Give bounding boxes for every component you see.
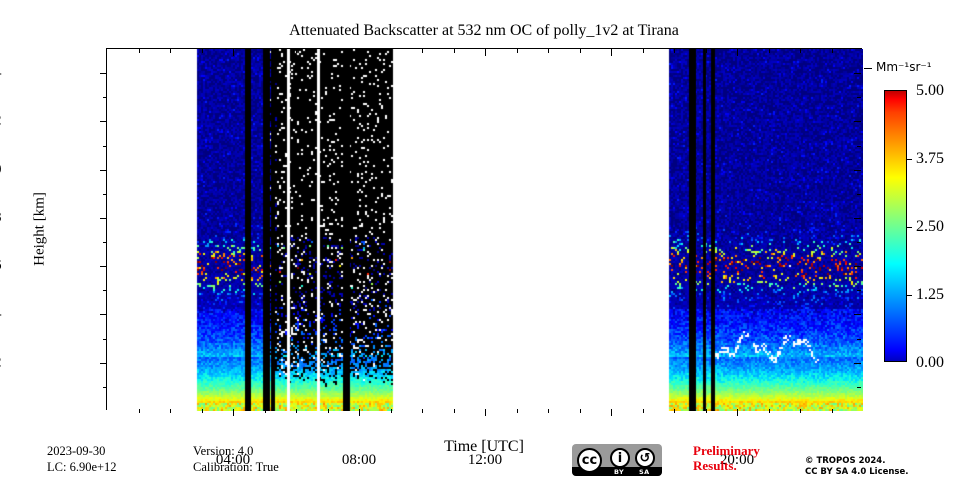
y-tick-label: 4: [0, 306, 1, 323]
y-tick-right: [854, 314, 861, 315]
x-tick-minor: [391, 409, 392, 413]
x-tick-minor: [674, 409, 675, 413]
x-tick-minor-top: [391, 49, 392, 53]
copyright-line-2: CC BY SA 4.0 License.: [805, 467, 908, 478]
colorbar-tick: [906, 159, 912, 160]
x-tick-minor-top: [296, 49, 297, 53]
y-tick-label: 14: [0, 65, 1, 82]
x-tick-minor: [800, 409, 801, 413]
x-tick-minor-top: [454, 49, 455, 53]
y-tick-label: 2: [0, 354, 1, 371]
copyright-note: © TROPOS 2024. CC BY SA 4.0 License.: [805, 456, 908, 479]
y-tick-right: [854, 121, 861, 122]
cc-sa-label: SA: [639, 468, 650, 476]
y-tick-minor-right: [857, 387, 861, 388]
footer-version: Version: 4.0: [193, 444, 253, 459]
y-tick-major: [100, 314, 107, 315]
y-tick-minor-right: [857, 97, 861, 98]
y-tick-major: [100, 170, 107, 171]
y-tick-major: [100, 218, 107, 219]
colorbar-tick-label: 1.25: [916, 286, 944, 304]
y-tick-minor: [103, 194, 107, 195]
x-tick-minor: [548, 409, 549, 413]
y-tick-major: [100, 266, 107, 267]
y-tick-minor: [103, 146, 107, 147]
y-tick-minor: [103, 339, 107, 340]
x-tick-minor: [454, 409, 455, 413]
x-tick-minor-top: [139, 49, 140, 53]
y-tick-right: [854, 363, 861, 364]
preliminary-results-note: Preliminary Results.: [693, 443, 760, 474]
colorbar-unit-label: Mm⁻¹sr⁻¹: [876, 60, 932, 74]
x-tick-minor: [202, 409, 203, 413]
x-tick-major: [233, 409, 234, 416]
x-tick-minor-top: [422, 49, 423, 53]
x-tick-minor: [170, 409, 171, 413]
colorbar: 0.001.252.503.755.00: [884, 90, 907, 362]
colorbar-tick: [906, 227, 912, 228]
y-tick-minor: [103, 242, 107, 243]
y-tick-label: 10: [0, 161, 1, 178]
preliminary-line-1: Preliminary: [693, 443, 760, 458]
y-tick-major: [100, 363, 107, 364]
x-tick-minor-top: [643, 49, 644, 53]
x-tick-minor: [328, 409, 329, 413]
x-tick-minor: [265, 409, 266, 413]
footer-lidar-constant: LC: 6.90e+12: [47, 460, 117, 475]
x-tick-major: [359, 409, 360, 416]
x-tick-label: 08:00: [342, 452, 376, 469]
preliminary-line-2: Results.: [693, 458, 760, 473]
lidar-quicklook-figure: Attenuated Backscatter at 532 nm OC of p…: [0, 0, 960, 480]
footer-calibration: Calibration: True: [193, 460, 279, 475]
x-tick-minor-top: [328, 49, 329, 53]
x-tick-top: [233, 49, 234, 56]
chart-title: Attenuated Backscatter at 532 nm OC of p…: [106, 22, 862, 40]
y-tick-major: [100, 121, 107, 122]
y-tick-minor-right: [857, 146, 861, 147]
x-tick-minor-top: [706, 49, 707, 53]
x-tick-minor: [580, 409, 581, 413]
y-axis-title: Height [km]: [32, 192, 49, 266]
creative-commons-badge[interactable]: cc i ↺ BY SA: [572, 444, 662, 476]
plot-area[interactable]: 246810121404:0008:0012:0016:0020:00: [106, 48, 862, 410]
x-tick-minor: [832, 409, 833, 413]
x-tick-minor-top: [548, 49, 549, 53]
y-tick-right: [854, 266, 861, 267]
cc-sa-icon: ↺: [635, 448, 655, 468]
y-tick-label: 8: [0, 209, 1, 226]
y-tick-right: [854, 73, 861, 74]
y-tick-label: 6: [0, 258, 1, 275]
colorbar-tick: [906, 295, 912, 296]
y-tick-right: [854, 218, 861, 219]
colorbar-unit-tick: [864, 68, 872, 69]
y-tick-right: [854, 170, 861, 171]
backscatter-heatmap: [107, 49, 863, 411]
y-tick-minor-right: [857, 290, 861, 291]
x-tick-top: [485, 49, 486, 56]
y-tick-minor-right: [857, 242, 861, 243]
x-tick-minor: [139, 409, 140, 413]
x-tick-minor: [643, 409, 644, 413]
x-tick-minor-top: [265, 49, 266, 53]
y-tick-minor: [103, 97, 107, 98]
y-tick-minor-right: [857, 194, 861, 195]
x-tick-minor-top: [832, 49, 833, 53]
x-tick-minor: [706, 409, 707, 413]
x-tick-major: [737, 409, 738, 416]
x-tick-minor-top: [769, 49, 770, 53]
cc-logo-icon: cc: [577, 448, 602, 473]
y-tick-minor: [103, 387, 107, 388]
x-tick-top: [611, 49, 612, 56]
x-tick-minor: [296, 409, 297, 413]
x-tick-top: [359, 49, 360, 56]
colorbar-tick-label: 3.75: [916, 150, 944, 168]
cc-by-label: BY: [614, 468, 624, 476]
x-tick-major: [485, 409, 486, 416]
x-tick-minor-top: [517, 49, 518, 53]
footer-date: 2023-09-30: [47, 444, 105, 459]
x-tick-minor-top: [170, 49, 171, 53]
x-tick-minor-top: [800, 49, 801, 53]
x-tick-minor: [517, 409, 518, 413]
y-tick-label: 12: [0, 113, 1, 130]
colorbar-tick-label: 2.50: [916, 218, 944, 236]
x-tick-minor-top: [580, 49, 581, 53]
colorbar-tick-label: 0.00: [916, 354, 944, 372]
x-tick-major: [611, 409, 612, 416]
x-tick-minor: [769, 409, 770, 413]
x-tick-minor: [422, 409, 423, 413]
y-tick-minor-right: [857, 339, 861, 340]
cc-by-icon: i: [610, 448, 630, 468]
copyright-line-1: © TROPOS 2024.: [805, 456, 908, 467]
colorbar-tick-label: 5.00: [916, 82, 944, 100]
x-tick-minor-top: [202, 49, 203, 53]
x-axis-title: Time [UTC]: [444, 438, 524, 456]
y-tick-major: [100, 73, 107, 74]
x-tick-top: [737, 49, 738, 56]
y-tick-minor: [103, 290, 107, 291]
x-tick-minor-top: [674, 49, 675, 53]
